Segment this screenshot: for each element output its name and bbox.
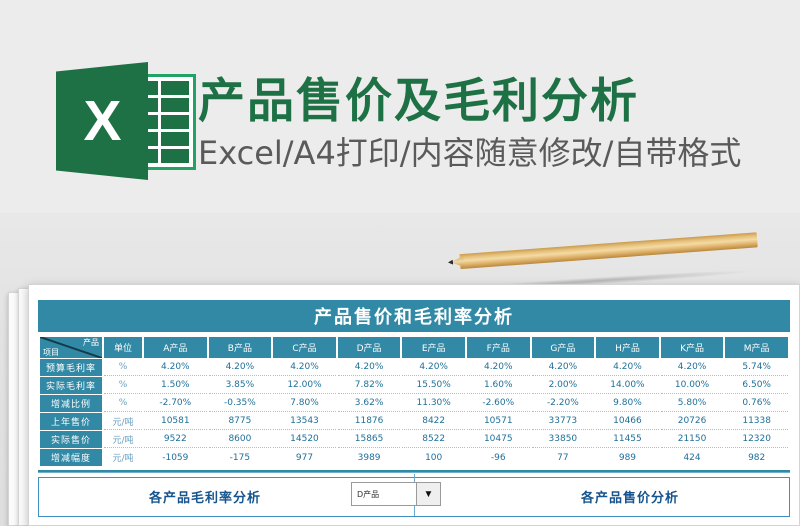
cell: 977 xyxy=(273,449,336,466)
col-header-h: H产品 xyxy=(596,337,659,358)
chart-title-margin: 各产品毛利率分析 xyxy=(149,487,261,506)
row-label: 实际毛利率 xyxy=(40,377,102,394)
analysis-table: 产品 项目 单位 A产品 B产品 C产品 D产品 E产品 F产品 G产品 H产品… xyxy=(38,336,790,467)
table-row: 预算毛利率 % 4.20% 4.20% 4.20% 4.20% 4.20% 4.… xyxy=(40,359,788,376)
cell: 7.80% xyxy=(273,395,336,412)
cell: 989 xyxy=(596,449,659,466)
cell: 14.00% xyxy=(596,377,659,394)
spreadsheet: 产品售价和毛利率分析 产品 项目 单位 A产品 B产品 C产品 D产品 E产品 xyxy=(38,300,790,526)
col-header-f: F产品 xyxy=(467,337,530,358)
cell: 8522 xyxy=(402,431,465,448)
cell: -1059 xyxy=(144,449,207,466)
cell: -175 xyxy=(209,449,272,466)
cell: 1.60% xyxy=(467,377,530,394)
table-row: 实际毛利率 % 1.50% 3.85% 12.00% 7.82% 15.50% … xyxy=(40,377,788,394)
col-header-b: B产品 xyxy=(209,337,272,358)
corner-label-item: 项目 xyxy=(43,347,59,358)
row-label: 增减比例 xyxy=(40,395,102,412)
cell: 12.00% xyxy=(273,377,336,394)
excel-logo-letter: X xyxy=(56,62,148,180)
cell: 4.20% xyxy=(402,359,465,376)
cell: 4.20% xyxy=(209,359,272,376)
cell: 11.30% xyxy=(402,395,465,412)
chart-panel: 各产品毛利率分析 各产品售价分析 D产品 ▼ xyxy=(38,477,790,517)
page-title: 产品售价及毛利分析 xyxy=(198,62,639,131)
row-unit: % xyxy=(104,359,142,376)
table-header-row: 产品 项目 单位 A产品 B产品 C产品 D产品 E产品 F产品 G产品 H产品… xyxy=(40,337,788,358)
cell: 8422 xyxy=(402,413,465,430)
cell: 424 xyxy=(661,449,724,466)
col-header-m: M产品 xyxy=(725,337,788,358)
cell: 9.80% xyxy=(596,395,659,412)
row-unit: 元/吨 xyxy=(104,449,142,466)
table-row: 实际售价 元/吨 9522 8600 14520 15865 8522 1047… xyxy=(40,431,788,448)
cell: 7.82% xyxy=(338,377,401,394)
corner-label-product: 产品 xyxy=(83,337,99,348)
cell: 10466 xyxy=(596,413,659,430)
col-header-d: D产品 xyxy=(338,337,401,358)
cell: 10475 xyxy=(467,431,530,448)
cell: 33773 xyxy=(532,413,595,430)
cell: 9522 xyxy=(144,431,207,448)
cell: 4.20% xyxy=(338,359,401,376)
col-header-g: G产品 xyxy=(532,337,595,358)
cell: 10.00% xyxy=(661,377,724,394)
row-label: 实际售价 xyxy=(40,431,102,448)
row-label: 上年售价 xyxy=(40,413,102,430)
chevron-down-icon[interactable]: ▼ xyxy=(416,483,440,505)
cell: 20726 xyxy=(661,413,724,430)
excel-logo-icon: X xyxy=(56,56,200,184)
cell: 12320 xyxy=(725,431,788,448)
cell: 10581 xyxy=(144,413,207,430)
row-label: 预算毛利率 xyxy=(40,359,102,376)
row-unit: 元/吨 xyxy=(104,413,142,430)
promo-banner: X 产品售价及毛利分析 Excel/A4打印/内容随意修改/自带格式 xyxy=(0,0,800,213)
cell: 3.85% xyxy=(209,377,272,394)
cell: 11876 xyxy=(338,413,401,430)
cell: 4.20% xyxy=(661,359,724,376)
col-header-a: A产品 xyxy=(144,337,207,358)
cell: 8600 xyxy=(209,431,272,448)
pencil-graphite-tip xyxy=(448,260,453,265)
table-row: 增减幅度 元/吨 -1059 -175 977 3989 100 -96 77 … xyxy=(40,449,788,466)
row-unit: % xyxy=(104,377,142,394)
cell: 4.20% xyxy=(144,359,207,376)
cell: 14520 xyxy=(273,431,336,448)
col-header-k: K产品 xyxy=(661,337,724,358)
cell: 4.20% xyxy=(467,359,530,376)
cell: -0.35% xyxy=(209,395,272,412)
product-select-value: D产品 xyxy=(352,483,416,505)
cell: 982 xyxy=(725,449,788,466)
row-unit: % xyxy=(104,395,142,412)
cell: 5.80% xyxy=(661,395,724,412)
cell: 3.62% xyxy=(338,395,401,412)
cell: 2.00% xyxy=(532,377,595,394)
product-select[interactable]: D产品 ▼ xyxy=(351,482,441,506)
cell: 3989 xyxy=(338,449,401,466)
cell: 0.76% xyxy=(725,395,788,412)
cell: -2.20% xyxy=(532,395,595,412)
col-header-e: E产品 xyxy=(402,337,465,358)
chart-title-price: 各产品售价分析 xyxy=(581,487,679,506)
cell: 33850 xyxy=(532,431,595,448)
cell: 5.74% xyxy=(725,359,788,376)
section-divider xyxy=(38,470,790,473)
cell: -2.60% xyxy=(467,395,530,412)
page-subtitle: Excel/A4打印/内容随意修改/自带格式 xyxy=(198,128,741,174)
cell: 4.20% xyxy=(596,359,659,376)
row-label: 增减幅度 xyxy=(40,449,102,466)
cell: 11338 xyxy=(725,413,788,430)
col-header-unit: 单位 xyxy=(104,337,142,358)
row-unit: 元/吨 xyxy=(104,431,142,448)
cell: 13543 xyxy=(273,413,336,430)
spreadsheet-title: 产品售价和毛利率分析 xyxy=(38,300,790,332)
corner-header-cell: 产品 项目 xyxy=(40,337,102,358)
cell: 8775 xyxy=(209,413,272,430)
cell: 10571 xyxy=(467,413,530,430)
table-row: 增减比例 % -2.70% -0.35% 7.80% 3.62% 11.30% … xyxy=(40,395,788,412)
cell: 15.50% xyxy=(402,377,465,394)
cell: 100 xyxy=(402,449,465,466)
cell: 15865 xyxy=(338,431,401,448)
cell: 4.20% xyxy=(273,359,336,376)
table-row: 上年售价 元/吨 10581 8775 13543 11876 8422 105… xyxy=(40,413,788,430)
cell: -96 xyxy=(467,449,530,466)
col-header-c: C产品 xyxy=(273,337,336,358)
cell: -2.70% xyxy=(144,395,207,412)
cell: 6.50% xyxy=(725,377,788,394)
cell: 11455 xyxy=(596,431,659,448)
cell: 77 xyxy=(532,449,595,466)
cell: 4.20% xyxy=(532,359,595,376)
cell: 1.50% xyxy=(144,377,207,394)
cell: 21150 xyxy=(661,431,724,448)
